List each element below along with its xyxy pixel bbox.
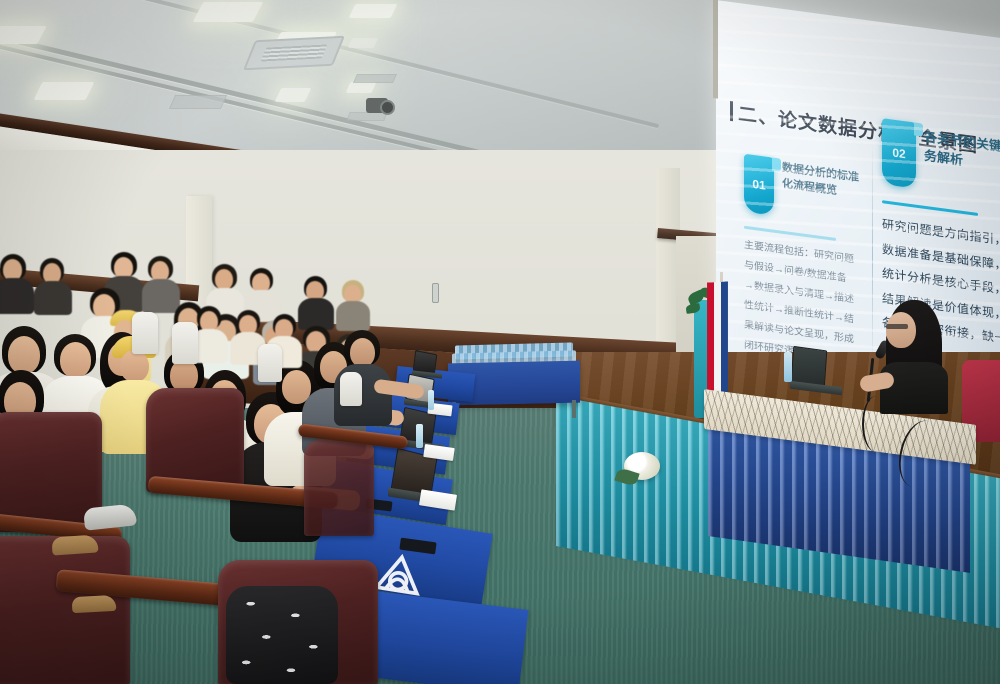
- ceiling-light: [349, 4, 398, 18]
- projection-screen: 二、论文数据分析的全景图 01 数据分析的标准化流程概览 主要流程包括：研究问题…: [716, 0, 1000, 392]
- slide-badge-02: 02: [882, 118, 916, 189]
- projector: [366, 98, 388, 113]
- ceiling-light: [348, 38, 378, 48]
- presenter-head: [886, 312, 916, 348]
- ceiling-light: [275, 88, 312, 102]
- slide-badge-01: 01: [744, 154, 774, 216]
- audience-chair: [304, 440, 374, 536]
- screen-left-edge: [713, 0, 718, 99]
- water-bottle: [784, 352, 792, 382]
- chair-cover: [132, 312, 158, 354]
- footwear: [51, 534, 98, 555]
- audience-right-cluster: [192, 300, 372, 380]
- air-conditioning-vent: [243, 36, 345, 71]
- ceiling-light: [271, 32, 337, 51]
- ceiling-light: [34, 82, 95, 100]
- table-leg: [572, 400, 576, 418]
- presenter: [876, 300, 950, 405]
- presenter-glasses: [886, 324, 908, 329]
- chair-cover: [172, 322, 198, 364]
- slide-badge-01-label: 01: [752, 177, 765, 193]
- slide-column-01-heading: 数据分析的标准化流程概览: [782, 161, 868, 204]
- lecture-hall-photo: 二、论文数据分析的全景图 01 数据分析的标准化流程概览 主要流程包括：研究问题…: [0, 0, 1000, 684]
- backpack: [226, 586, 338, 684]
- ceiling-light: [0, 26, 47, 44]
- ceiling-light: [346, 82, 377, 93]
- presenter-torso: [880, 362, 948, 414]
- water-bottle: [416, 424, 423, 448]
- slide-column-02-heading: 各关节的关键任务解析: [924, 128, 1000, 178]
- flower-arrangement: [624, 452, 660, 480]
- chair-cover: [258, 344, 282, 382]
- national-flag: [707, 281, 728, 402]
- chair-cover: [340, 372, 362, 406]
- ceiling-light: [193, 2, 264, 22]
- presenter-laptop: [790, 348, 846, 394]
- slide-badge-02-label: 02: [892, 146, 905, 162]
- footwear: [72, 595, 117, 613]
